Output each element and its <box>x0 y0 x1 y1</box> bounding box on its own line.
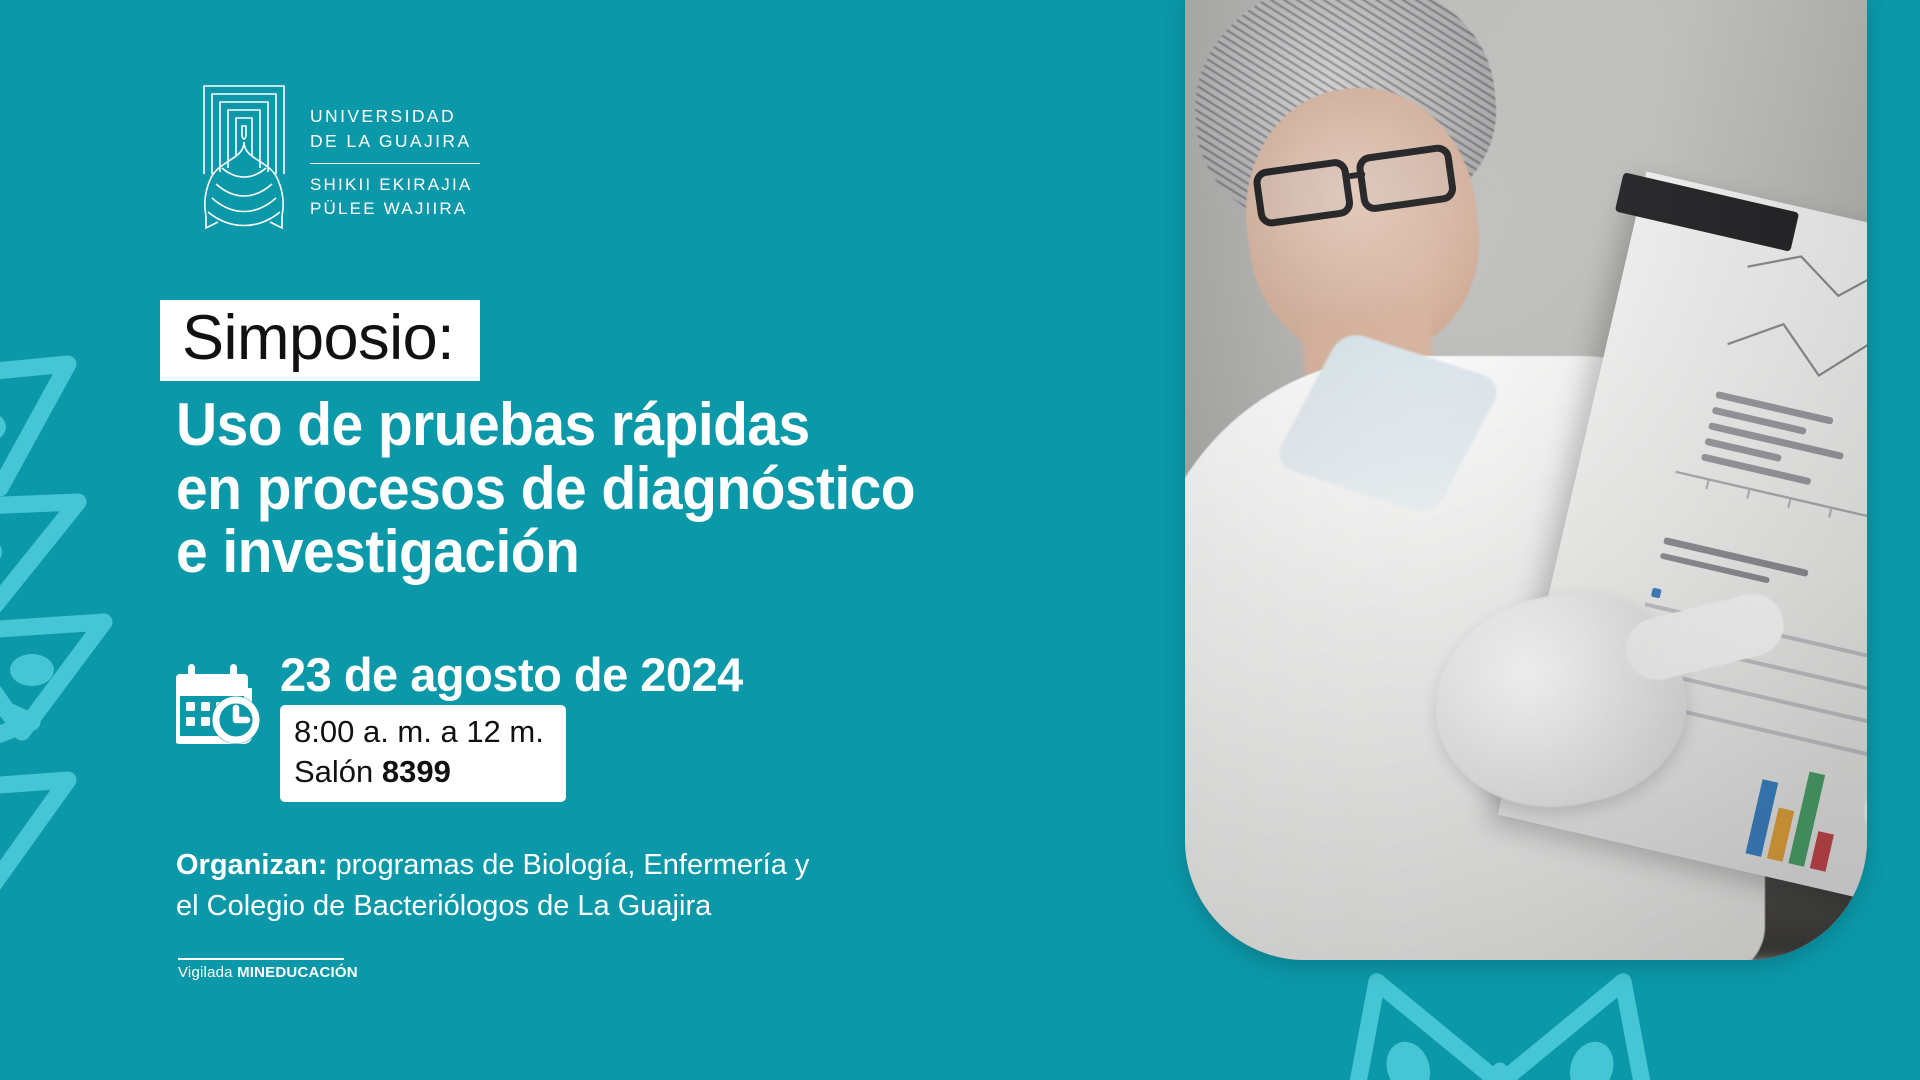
lab-scientist-photo <box>1185 0 1867 960</box>
event-datetime-block: 23 de agosto de 2024 8:00 a. m. a 12 m. … <box>176 650 743 802</box>
wayuu-knot-logo-icon <box>196 76 292 236</box>
calendar-clock-icon <box>176 656 264 748</box>
organizers-label: Organizan: <box>176 849 327 881</box>
organizers-line1-rest: programas de Biología, Enfermería y <box>327 849 809 881</box>
event-date: 23 de agosto de 2024 <box>280 650 743 699</box>
badge-strong: MINEDUCACIÓN <box>237 964 358 981</box>
room-number: 8399 <box>382 754 451 789</box>
page-title: Uso de pruebas rápidas en procesos de di… <box>176 393 1176 584</box>
logo-university-line2: DE LA GUAJIRA <box>310 129 480 154</box>
lens-left <box>1252 157 1355 228</box>
headline-line-1: Uso de pruebas rápidas <box>176 393 1126 457</box>
organizers-line-1: Organizan: programas de Biología, Enferm… <box>176 845 1076 886</box>
logo-wayuu-line2: PÜLEE WAJIIRA <box>310 197 480 221</box>
photo-composition <box>1185 0 1867 960</box>
logo-divider <box>310 163 480 165</box>
organizers-block: Organizan: programas de Biología, Enferm… <box>176 845 1076 927</box>
room-label: Salón <box>294 754 373 789</box>
event-time: 8:00 a. m. a 12 m. <box>294 712 544 752</box>
badge-prefix: Vigilada <box>178 964 237 981</box>
university-logo: UNIVERSIDAD DE LA GUAJIRA SHIKII EKIRAJI… <box>196 76 480 236</box>
lens-right <box>1355 143 1458 214</box>
poster-canvas: UNIVERSIDAD DE LA GUAJIRA SHIKII EKIRAJI… <box>0 0 1920 1080</box>
badge-text: Vigilada MINEDUCACIÓN <box>178 964 358 981</box>
headline-line-3: e investigación <box>176 520 1126 584</box>
event-room: Salón 8399 <box>294 752 544 792</box>
logo-university-line1: UNIVERSIDAD <box>310 104 480 129</box>
eyebrow-text: Simposio: <box>182 307 454 370</box>
headline-line-2: en procesos de diagnóstico <box>176 457 1126 521</box>
organizers-line-2: el Colegio de Bacteriólogos de La Guajir… <box>176 886 1076 927</box>
status-badge: Vigilada MINEDUCACIÓN <box>178 958 358 981</box>
eyebrow-simposio: Simposio: <box>160 300 480 381</box>
logo-wayuu-line1: SHIKII EKIRAJIA <box>310 173 480 197</box>
event-time-room-box: 8:00 a. m. a 12 m. Salón 8399 <box>280 705 566 801</box>
badge-rule <box>178 958 344 960</box>
